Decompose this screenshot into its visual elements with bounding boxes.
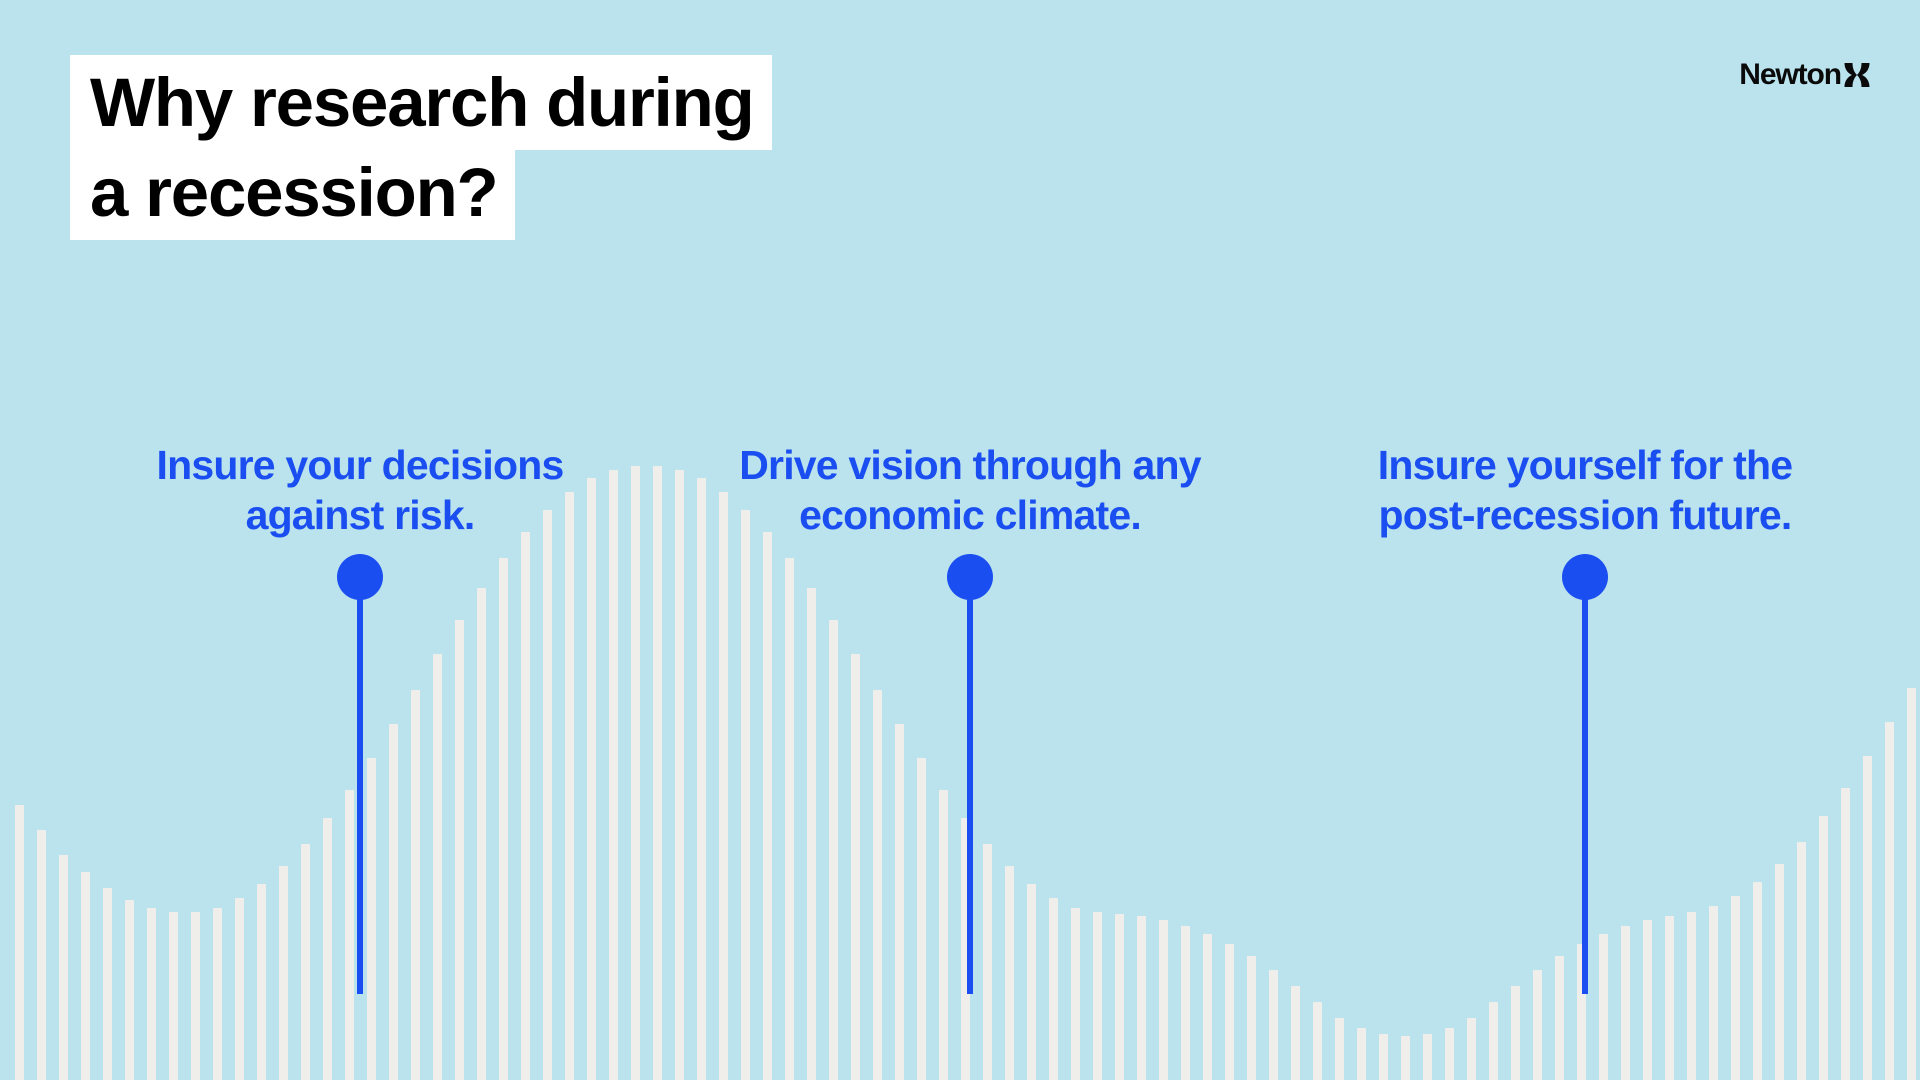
wave-bar	[1511, 986, 1520, 1080]
wave-bar	[1313, 1002, 1322, 1080]
wave-bar	[1401, 1036, 1410, 1080]
wave-bar	[1863, 756, 1872, 1080]
wave-bar	[81, 872, 90, 1080]
wave-bar	[37, 830, 46, 1080]
wave-bar	[587, 478, 596, 1080]
pin-stem-1	[357, 594, 363, 994]
value-prop-column-3: Insure yourself for the post-recession f…	[1325, 440, 1845, 994]
wave-bar	[653, 466, 662, 1080]
page-title: Why research duringa recession?	[70, 58, 1070, 237]
wave-bar	[1357, 1028, 1366, 1080]
logo-x-mark-icon	[1842, 60, 1872, 90]
wave-bar	[1423, 1034, 1432, 1080]
wave-bar	[1907, 688, 1916, 1080]
pin-stem-2	[967, 594, 973, 994]
slide-canvas: Why research duringa recession? Newton I…	[0, 0, 1920, 1080]
value-prop-column-2: Drive vision through any economic climat…	[665, 440, 1275, 994]
value-prop-column-1: Insure your decisions against risk.	[135, 440, 585, 994]
value-prop-text-2: Drive vision through any economic climat…	[665, 440, 1275, 540]
page-title-line-1: Why research during	[70, 55, 772, 150]
wave-bar	[59, 855, 68, 1080]
pin-stem-3	[1582, 594, 1588, 994]
wave-bar	[631, 466, 640, 1080]
map-pin-marker-3	[1562, 554, 1608, 994]
wave-bar	[1291, 986, 1300, 1080]
map-pin-marker-2	[947, 554, 993, 994]
wave-bar	[125, 900, 134, 1080]
wave-bar	[1379, 1034, 1388, 1080]
wave-bar	[1467, 1018, 1476, 1080]
wave-bar	[1335, 1018, 1344, 1080]
wave-bar	[15, 805, 24, 1080]
map-pin-marker-1	[337, 554, 383, 994]
page-title-line-2: a recession?	[70, 145, 515, 240]
wave-bar	[1445, 1028, 1454, 1080]
newtonx-logo[interactable]: Newton	[1739, 60, 1872, 90]
wave-bar	[609, 470, 618, 1080]
wave-bar	[1489, 1002, 1498, 1080]
wave-bar	[1885, 722, 1894, 1080]
value-prop-text-3: Insure yourself for the post-recession f…	[1325, 440, 1845, 540]
wave-bar	[103, 888, 112, 1080]
value-prop-text-1: Insure your decisions against risk.	[135, 440, 585, 540]
logo-wordmark-text: Newton	[1739, 60, 1841, 90]
